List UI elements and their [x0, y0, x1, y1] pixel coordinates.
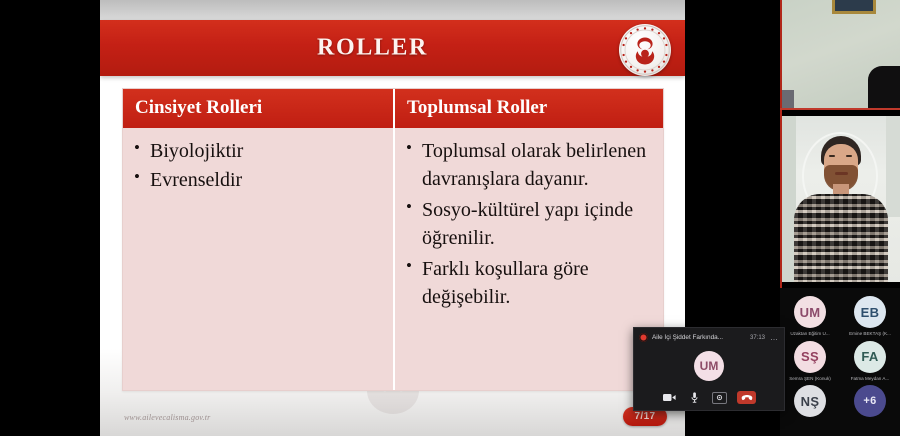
footer-url: www.ailevecalisma.gov.tr [124, 413, 211, 422]
share-screen-button[interactable] [712, 392, 727, 404]
camera-button[interactable] [662, 392, 677, 404]
roles-comparison-table: Cinsiyet Rolleri Biyolojiktir Evrenseldi… [122, 88, 664, 391]
video-edge-accent [780, 0, 782, 108]
list-item: Biyolojiktir [133, 137, 381, 165]
slide-top-strip [100, 0, 685, 20]
participant-video-top[interactable] [780, 0, 900, 108]
list-item: Evrenseldir [133, 166, 381, 194]
participant-row: UM Uzaktan Eğitim U... EB Emine BEKTAŞ (… [780, 292, 900, 337]
person-eye [829, 155, 835, 157]
column-header: Cinsiyet Rolleri [123, 89, 393, 128]
video-rail: UM Uzaktan Eğitim U... EB Emine BEKTAŞ (… [780, 0, 900, 436]
list-item: Sosyo-kültürel yapı içinde öğrenilir. [405, 196, 651, 253]
meeting-control-panel[interactable]: Aile İçi Şiddet Farkında... 37:13 … UM [633, 327, 785, 411]
column-body: Biyolojiktir Evrenseldir [123, 128, 393, 390]
avatar: UM [694, 351, 724, 381]
video-edge-accent [780, 110, 782, 288]
meeting-title: Aile İçi Şiddet Farkında... [652, 334, 746, 341]
list-item[interactable]: UM Uzaktan Eğitim U... [780, 292, 840, 337]
hang-up-button[interactable] [737, 391, 756, 404]
overflow-count-badge: +6 [854, 385, 886, 417]
list-item[interactable]: FA Fatma Meydan A... [840, 337, 900, 382]
page-title: ROLLER [100, 35, 685, 62]
avatar: FA [854, 341, 886, 373]
participant-video-speaker[interactable] [780, 110, 900, 288]
list-item: Farklı koşullara göre değişebilir. [405, 255, 651, 312]
participant-row: NŞ +6 [780, 381, 900, 417]
meeting-self-view: UM [634, 347, 784, 385]
avatar: UM [794, 296, 826, 328]
background-wall-right [886, 110, 900, 217]
list-item[interactable]: NŞ [780, 381, 840, 417]
avatar: EB [854, 296, 886, 328]
meeting-controls-bar [634, 385, 784, 410]
slide-header-band: ROLLER [100, 20, 685, 76]
participant-list: UM Uzaktan Eğitim U... EB Emine BEKTAŞ (… [780, 292, 900, 436]
list-item[interactable]: SŞ Semra ŞEN (Konuk) [780, 337, 840, 382]
table-column-social-roles: Toplumsal Roller Toplumsal olarak belirl… [393, 89, 663, 390]
bullet-list: Toplumsal olarak belirlenen davranışlara… [405, 137, 651, 311]
avatar: NŞ [794, 385, 826, 417]
person-sweater-pattern [794, 194, 888, 288]
video-letterbox [780, 110, 900, 116]
person-mouth [835, 172, 848, 175]
record-dot-icon [639, 333, 648, 342]
avatar: SŞ [794, 341, 826, 373]
meeting-panel-header: Aile İçi Şiddet Farkında... 37:13 … [634, 328, 784, 347]
person-eye [846, 155, 852, 157]
bullet-list: Biyolojiktir Evrenseldir [133, 137, 381, 195]
column-header: Toplumsal Roller [395, 89, 663, 128]
screen-root: ROLLER [0, 0, 900, 436]
background-object [782, 90, 794, 108]
meeting-elapsed-time: 37:13 [750, 335, 765, 341]
list-item: Toplumsal olarak belirlenen davranışlara… [405, 137, 651, 194]
slide: ROLLER [100, 0, 685, 436]
picture-frame [832, 0, 876, 14]
ministry-emblem-icon [619, 24, 671, 76]
participant-overflow[interactable]: +6 [840, 381, 900, 417]
table-column-gender-roles: Cinsiyet Rolleri Biyolojiktir Evrenseldi… [123, 89, 393, 390]
video-letterbox [780, 282, 900, 288]
background-shadow [868, 66, 900, 108]
microphone-button[interactable] [687, 392, 702, 404]
more-options-icon[interactable]: … [769, 335, 779, 341]
participant-row: SŞ Semra ŞEN (Konuk) FA Fatma Meydan A..… [780, 337, 900, 382]
list-item[interactable]: EB Emine BEKTAŞ (K... [840, 292, 900, 337]
column-body: Toplumsal olarak belirlenen davranışlara… [395, 128, 663, 390]
